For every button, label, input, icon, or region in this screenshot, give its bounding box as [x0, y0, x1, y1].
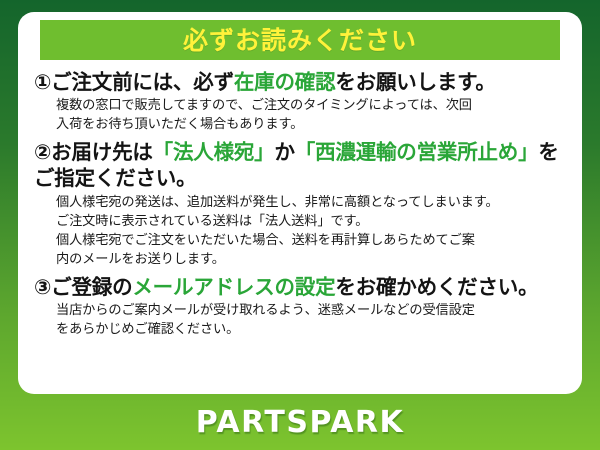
notice-banner: 必ずお読みください ①ご注文前には、必ず在庫の確認をお願いします。 複数の窓口で…	[0, 0, 600, 450]
notice-item-2-heading: ②お届け先は「法人様宛」か「西濃運輸の営業所止め」をご指定ください。	[34, 139, 566, 191]
notice-item-1-heading-post: をお願いします。	[335, 70, 495, 94]
notice-item-3-marker: ③	[34, 275, 51, 299]
notice-item-1-heading-pre: ご注文前には、必ず	[51, 70, 234, 94]
notice-item-2-body-line-3: 個人様宅宛でご注文をいただいた場合、送料を再計算しあらためてご案	[56, 231, 566, 250]
notice-item-3-body-line-1: 当店からのご案内メールが受け取れるよう、迷惑メールなどの受信設定	[56, 301, 566, 320]
notice-item-3-heading-highlight: メールアドレスの設定	[132, 275, 335, 299]
notice-item-2-marker: ②	[34, 140, 51, 164]
notice-item-1-body-line-1: 複数の窓口で販売してますので、ご注文のタイミングによっては、次回	[56, 96, 566, 115]
footer: PARTSPARK	[0, 394, 600, 450]
notice-item-2-heading-mid: か	[274, 140, 294, 164]
notice-item-2-body-line-1: 個人様宅宛の発送は、追加送料が発生し、非常に高額となってしまいます。	[56, 193, 566, 212]
page-title: 必ずお読みください	[183, 28, 417, 53]
notice-item-3-heading-post: をお確かめください。	[335, 275, 538, 299]
notice-item-2: ②お届け先は「法人様宛」か「西濃運輸の営業所止め」をご指定ください。 個人様宅宛…	[34, 139, 566, 268]
notice-item-2-body-line-2: ご注文時に表示されている送料は「法人送料」です。	[56, 212, 566, 231]
notice-item-3-heading: ③ご登録のメールアドレスの設定をお確かめください。	[34, 274, 566, 300]
notice-item-1-heading: ①ご注文前には、必ず在庫の確認をお願いします。	[34, 69, 566, 95]
notice-item-1-marker: ①	[34, 70, 51, 94]
notice-item-2-body: 個人様宅宛の発送は、追加送料が発生し、非常に高額となってしまいます。 ご注文時に…	[34, 193, 566, 269]
notice-item-2-heading-highlight: 「法人様宛」	[153, 140, 275, 164]
notice-item-1-heading-highlight: 在庫の確認	[234, 70, 336, 94]
notice-item-3-heading-pre: ご登録の	[51, 275, 132, 299]
notice-card: 必ずお読みください ①ご注文前には、必ず在庫の確認をお願いします。 複数の窓口で…	[18, 12, 582, 394]
notice-item-1-body-line-2: 入荷をお待ち頂いただく場合もあります。	[56, 115, 566, 134]
notice-items-list: ①ご注文前には、必ず在庫の確認をお願いします。 複数の窓口で販売してますので、ご…	[32, 69, 568, 339]
notice-item-2-heading-pre: お届け先は	[51, 140, 153, 164]
notice-item-3-body: 当店からのご案内メールが受け取れるよう、迷惑メールなどの受信設定 をあらかじめご…	[34, 301, 566, 339]
header-band: 必ずお読みください	[40, 20, 560, 60]
notice-item-3-body-line-2: をあらかじめご確認ください。	[56, 320, 566, 339]
notice-item-1: ①ご注文前には、必ず在庫の確認をお願いします。 複数の窓口で販売してますので、ご…	[34, 69, 566, 134]
notice-item-3: ③ご登録のメールアドレスの設定をお確かめください。 当店からのご案内メールが受け…	[34, 274, 566, 339]
brand-logo: PARTSPARK	[196, 405, 405, 440]
notice-item-2-body-line-4: 内のメールをお送りします。	[56, 250, 566, 269]
notice-item-2-heading-highlight-2: 「西濃運輸の営業所止め」	[295, 140, 539, 164]
notice-item-1-body: 複数の窓口で販売してますので、ご注文のタイミングによっては、次回 入荷をお待ち頂…	[34, 96, 566, 134]
